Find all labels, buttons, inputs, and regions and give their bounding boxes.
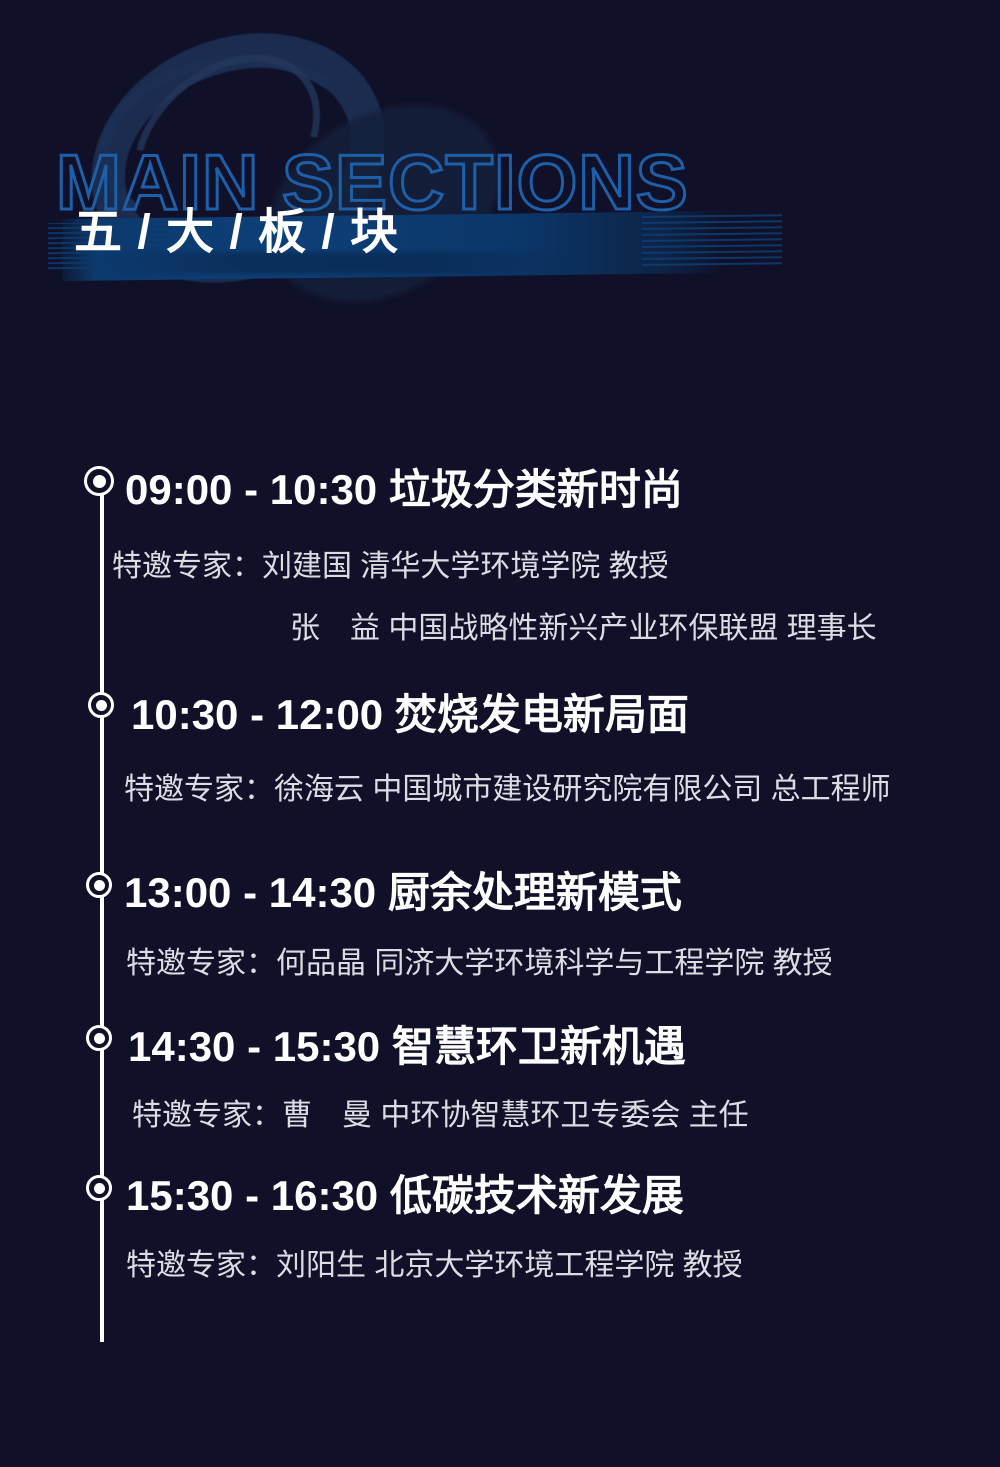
session-expert-line: 特邀专家：何品晶 同济大学环境科学与工程学院 教授 xyxy=(126,938,833,982)
session-heading: 14:30 - 15:30 智慧环卫新机遇 xyxy=(128,1013,686,1074)
session-expert-line: 特邀专家：刘阳生 北京大学环境工程学院 教授 xyxy=(126,1240,743,1284)
ring-dot-icon xyxy=(88,692,114,718)
ring-dot-icon xyxy=(84,466,114,496)
timeline-axis-line xyxy=(100,480,104,1342)
sessions-timeline: 09:00 - 10:30 垃圾分类新时尚 特邀专家：刘建国 清华大学环境学院 … xyxy=(0,0,1000,1467)
session-heading: 13:00 - 14:30 厨余处理新模式 xyxy=(124,859,682,920)
session-heading: 09:00 - 10:30 垃圾分类新时尚 xyxy=(125,456,683,517)
session-expert-line: 张 益 中国战略性新兴产业环保联盟 理事长 xyxy=(290,603,877,647)
ring-dot-icon xyxy=(86,1025,112,1051)
session-expert-line: 特邀专家：曹 曼 中环协智慧环卫专委会 主任 xyxy=(132,1090,749,1134)
ring-dot-icon xyxy=(86,1175,112,1201)
ring-dot-icon xyxy=(86,872,112,898)
session-expert-line: 特邀专家：刘建国 清华大学环境学院 教授 xyxy=(112,541,669,585)
session-heading: 15:30 - 16:30 低碳技术新发展 xyxy=(126,1162,684,1223)
session-heading: 10:30 - 12:00 焚烧发电新局面 xyxy=(131,681,689,742)
session-expert-line: 特邀专家：徐海云 中国城市建设研究院有限公司 总工程师 xyxy=(124,764,891,808)
